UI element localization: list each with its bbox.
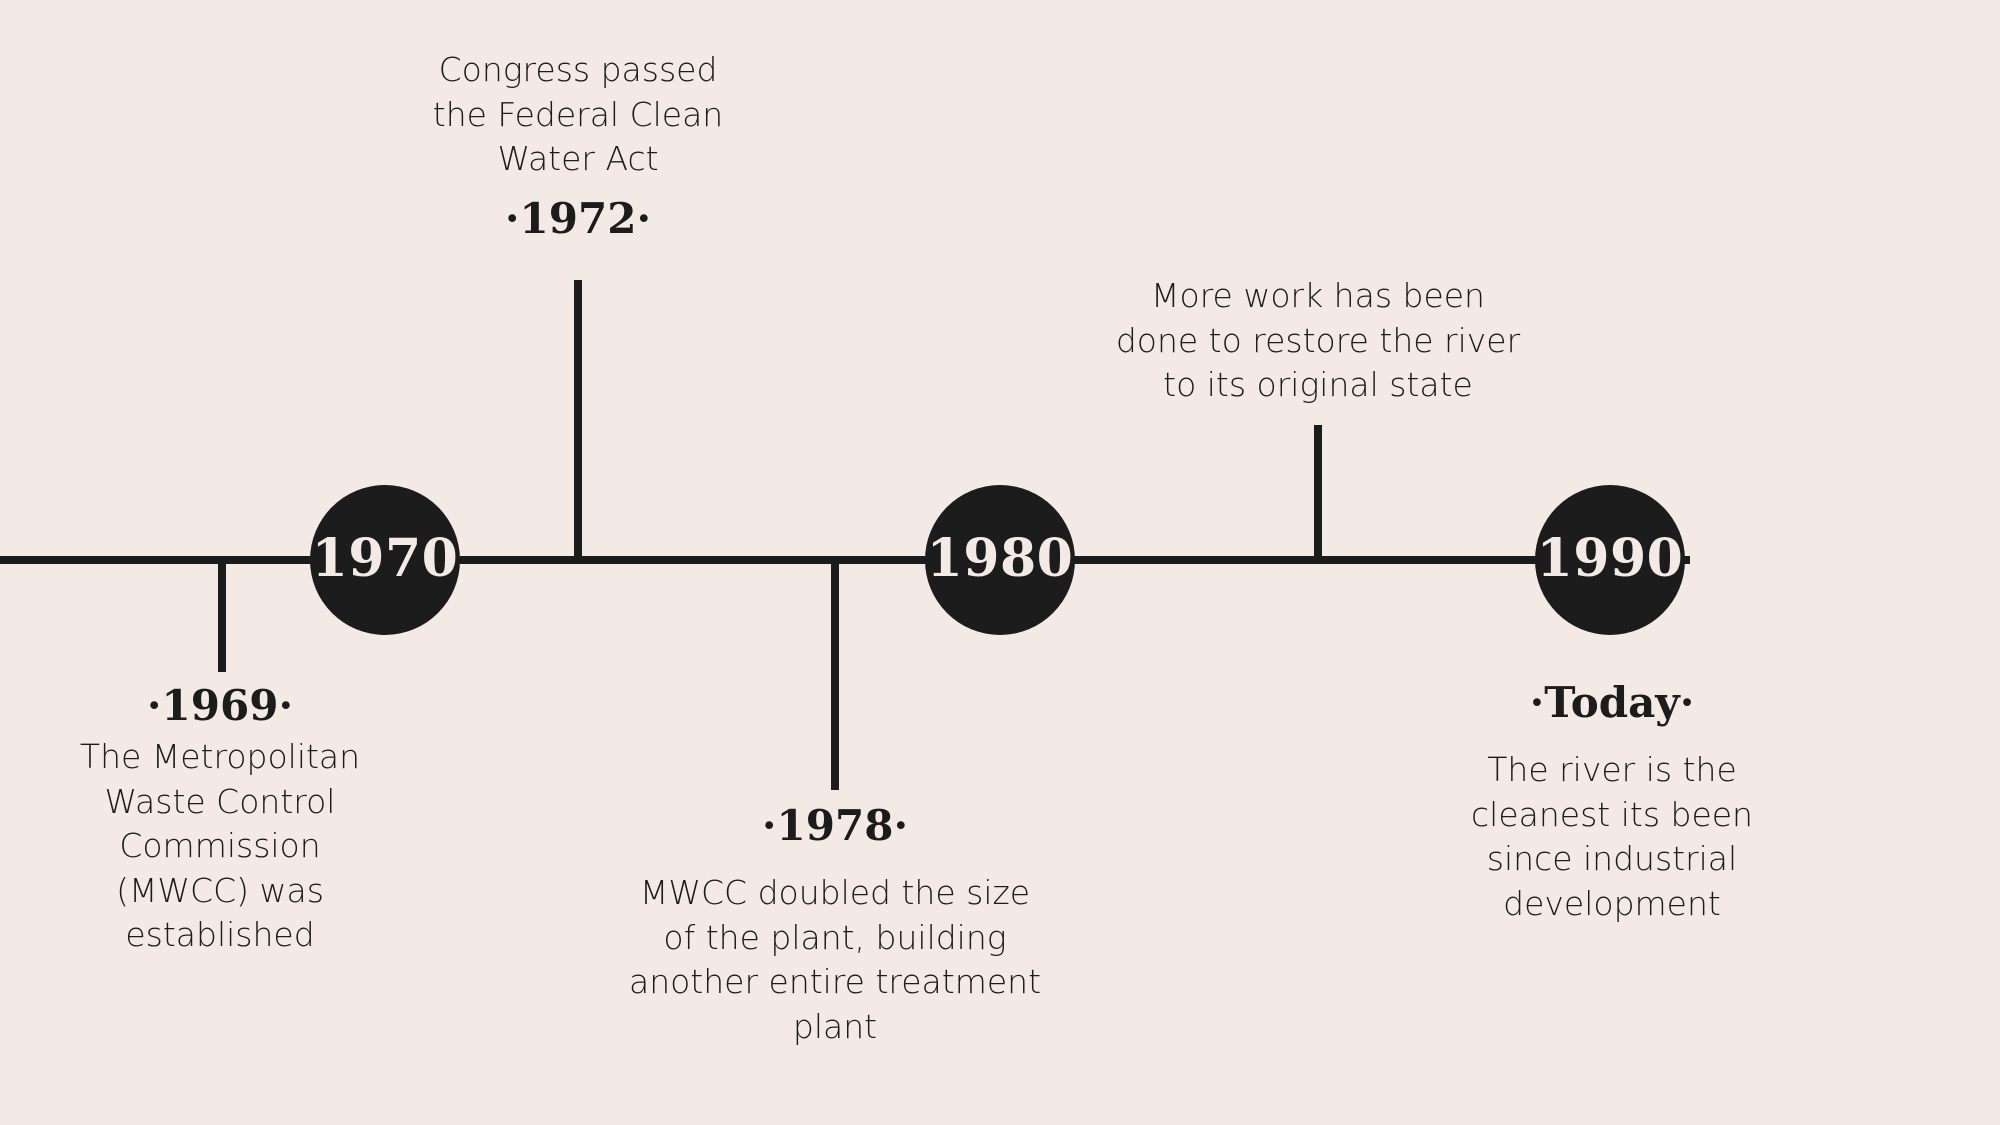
event-description-line: (MWCC) was (20, 869, 420, 914)
event-description-line: Congress passed (378, 48, 778, 93)
decade-node-1980: 1980 (925, 485, 1075, 635)
event-1969: ·1969·The MetropolitanWaste ControlCommi… (20, 683, 420, 958)
decade-label: 1970 (312, 533, 459, 585)
event-description-line: The river is the (1432, 748, 1792, 793)
event-description-line: done to restore the river (1098, 319, 1538, 364)
tick-event-restoration (1314, 425, 1322, 560)
event-year-label: ·Today· (1432, 680, 1792, 726)
event-description: The MetropolitanWaste ControlCommission(… (20, 735, 420, 958)
event-description: Congress passedthe Federal CleanWater Ac… (378, 48, 778, 182)
decade-node-1990: 1990 (1535, 485, 1685, 635)
event-description-line: the Federal Clean (378, 93, 778, 138)
timeline-infographic: 197019801990 ·1969·The MetropolitanWaste… (0, 0, 2000, 1125)
event-year-label: ·1969· (20, 683, 420, 729)
event-description-line: Waste Control (20, 780, 420, 825)
event-1978: ·1978·MWCC doubled the sizeof the plant,… (620, 803, 1050, 1049)
event-description-line: Commission (20, 824, 420, 869)
event-description-line: MWCC doubled the size (620, 871, 1050, 916)
decade-label: 1980 (927, 533, 1074, 585)
tick-event-1972 (574, 280, 582, 560)
event-description-line: The Metropolitan (20, 735, 420, 780)
event-description: MWCC doubled the sizeof the plant, build… (620, 871, 1050, 1049)
decade-node-1970: 1970 (310, 485, 460, 635)
event-1972-year: ·1972· (378, 196, 778, 242)
event-description-line: Water Act (378, 137, 778, 182)
event-description-line: development (1432, 882, 1792, 927)
event-1972-caption: Congress passedthe Federal CleanWater Ac… (378, 48, 778, 182)
event-description-line: to its original state (1098, 363, 1538, 408)
event-year-label: ·1978· (620, 803, 1050, 849)
event-today: ·Today·The river is thecleanest its been… (1432, 680, 1792, 926)
event-description-line: plant (620, 1005, 1050, 1050)
event-description-line: another entire treatment (620, 960, 1050, 1005)
timeline-axis (0, 556, 1690, 564)
tick-event-1969 (218, 560, 226, 672)
event-description: The river is thecleanest its beensince i… (1432, 748, 1792, 926)
event-restoration: More work has beendone to restore the ri… (1098, 268, 1538, 408)
event-description-line: established (20, 913, 420, 958)
event-description-line: cleanest its been (1432, 793, 1792, 838)
event-description-line: More work has been (1098, 274, 1538, 319)
event-description-line: of the plant, building (620, 916, 1050, 961)
tick-event-1978 (831, 560, 839, 790)
event-description-line: since industrial (1432, 837, 1792, 882)
event-description: More work has beendone to restore the ri… (1098, 274, 1538, 408)
event-year-label: ·1972· (378, 196, 778, 242)
decade-label: 1990 (1537, 533, 1684, 585)
